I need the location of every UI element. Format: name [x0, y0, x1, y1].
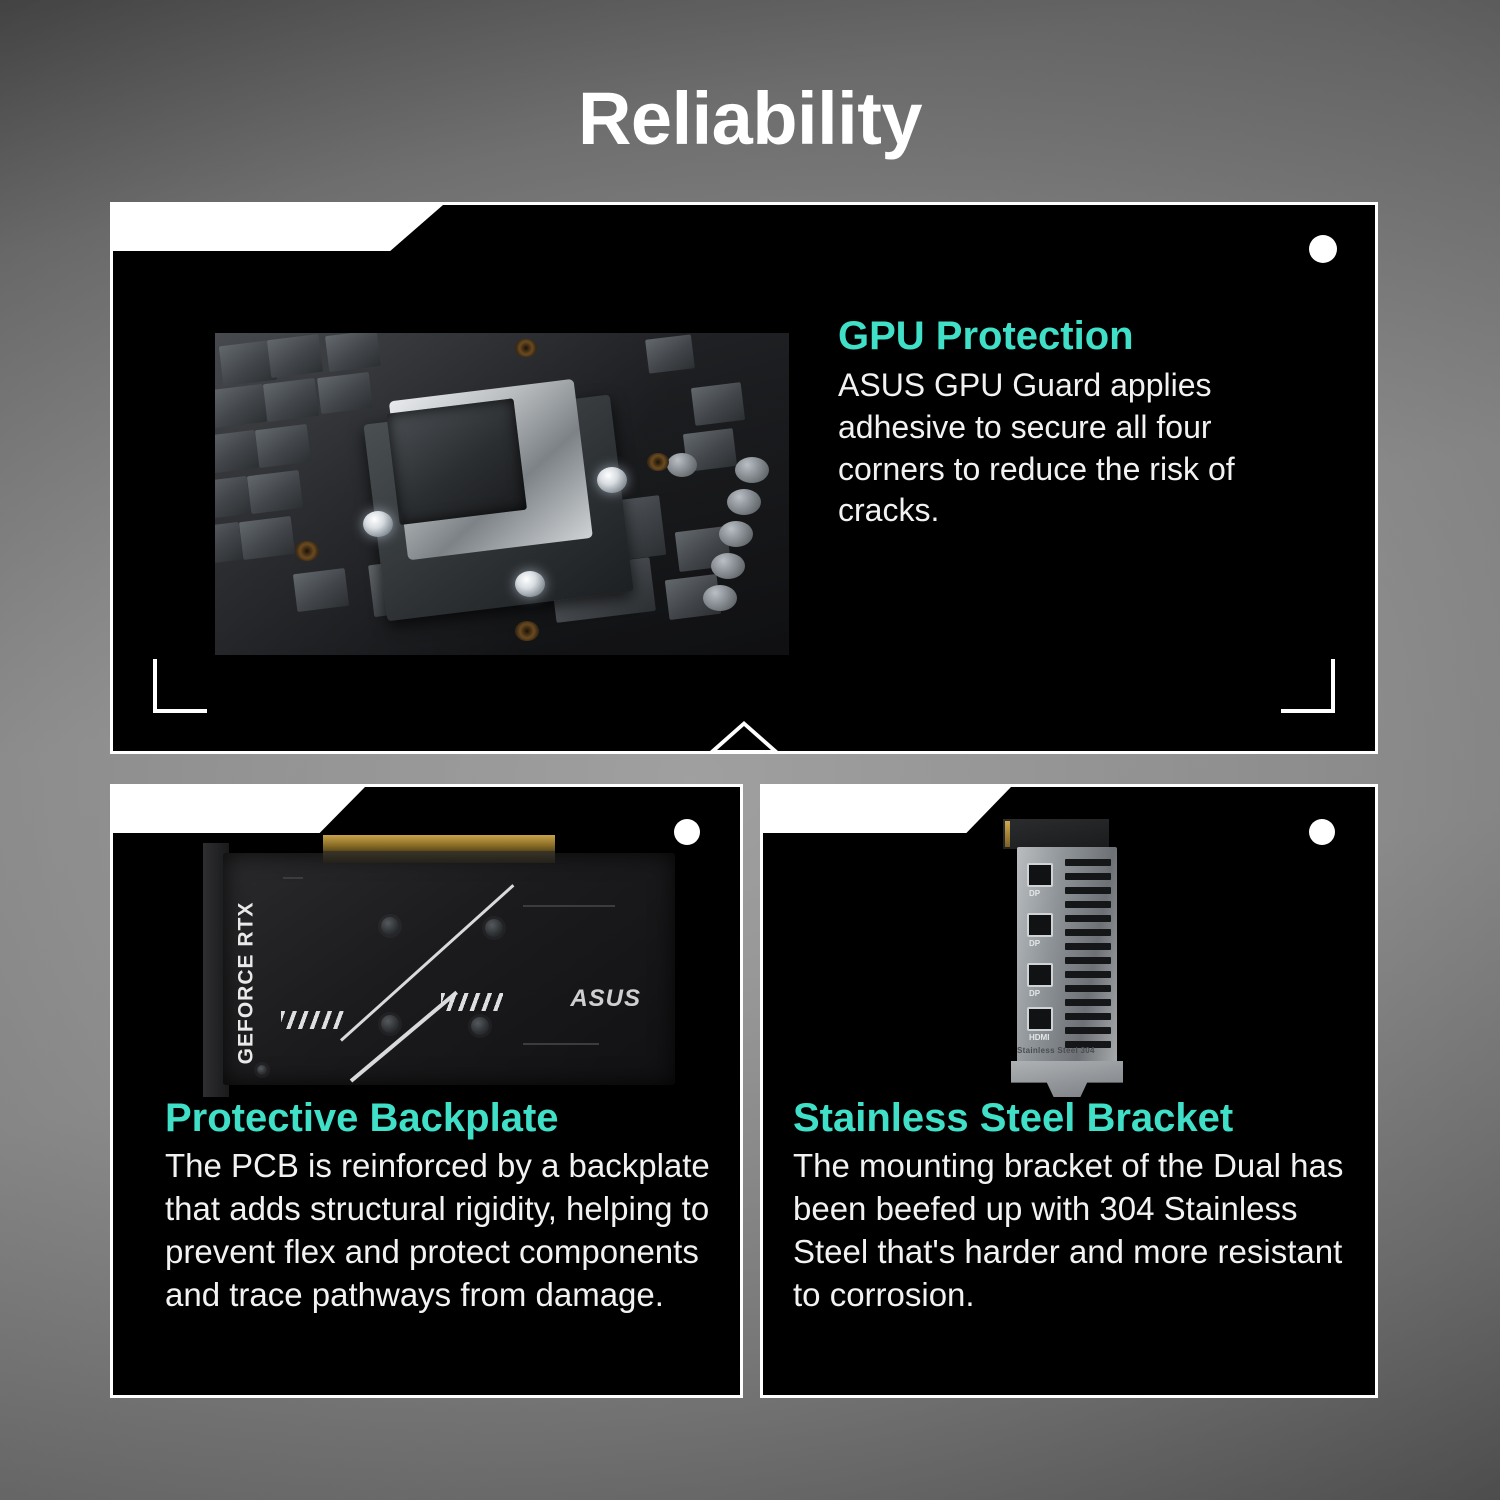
pcie-gold-fingers — [323, 835, 555, 851]
backplate-brand-label: GEFORCE RTX — [234, 902, 258, 1065]
adhesive-blob — [515, 571, 545, 597]
panel-top-wedge-accent — [113, 205, 443, 251]
port-dp-2 — [1027, 913, 1053, 937]
feature-body: The PCB is reinforced by a backplate tha… — [165, 1145, 725, 1317]
port-label: DP — [1029, 989, 1040, 998]
port-dp-1 — [1027, 863, 1053, 887]
adhesive-blob — [597, 467, 627, 493]
port-hdmi — [1027, 1007, 1053, 1031]
gpu-die — [353, 360, 640, 630]
feature-title: GPU Protection — [838, 315, 1268, 357]
port-label: DP — [1029, 889, 1040, 898]
gpu-protection-text-block: GPU Protection ASUS GPU Guard applies ad… — [838, 315, 1268, 532]
corner-bracket-bottom-left — [153, 659, 207, 713]
gpu-die-image — [215, 333, 789, 655]
backplate-text-block: Protective Backplate The PCB is reinforc… — [165, 1097, 725, 1317]
backplate-image: GEFORCE RTX ASUS — [175, 817, 715, 1097]
feature-body: ASUS GPU Guard applies adhesive to secur… — [838, 365, 1268, 531]
pcb-components — [215, 333, 789, 655]
asus-logo: ASUS — [570, 985, 641, 1013]
status-dot-icon — [1309, 819, 1335, 845]
panel-protective-backplate: GEFORCE RTX ASUS Protective Backplate Th… — [110, 784, 743, 1398]
port-dp-3 — [1027, 963, 1053, 987]
triangle-marker-icon — [710, 721, 778, 751]
status-dot-icon — [1309, 235, 1337, 263]
bracket-material-label: Stainless Steel 304 — [1017, 1046, 1095, 1055]
corner-bracket-bottom-right — [1281, 659, 1335, 713]
bracket-mounting-foot — [1011, 1061, 1123, 1097]
port-label: HDMI — [1029, 1033, 1049, 1042]
feature-body: The mounting bracket of the Dual has bee… — [793, 1145, 1368, 1317]
panel-stainless-steel-bracket: DP DP DP HDMI Stainless Steel 304 Sta — [760, 784, 1378, 1398]
bracket-shroud-top — [1003, 819, 1109, 849]
bracket-text-block: Stainless Steel Bracket The mounting bra… — [793, 1097, 1368, 1317]
feature-title: Protective Backplate — [165, 1097, 725, 1139]
panel-gpu-protection: GPU Protection ASUS GPU Guard applies ad… — [110, 202, 1378, 754]
port-label: DP — [1029, 939, 1040, 948]
page-title: Reliability — [0, 82, 1500, 156]
backplate-body: GEFORCE RTX ASUS — [223, 853, 675, 1085]
adhesive-blob — [363, 511, 393, 537]
bracket-plate: DP DP DP HDMI — [1017, 847, 1117, 1069]
io-bracket-image: DP DP DP HDMI Stainless Steel 304 — [963, 813, 1183, 1103]
feature-title: Stainless Steel Bracket — [793, 1097, 1368, 1139]
